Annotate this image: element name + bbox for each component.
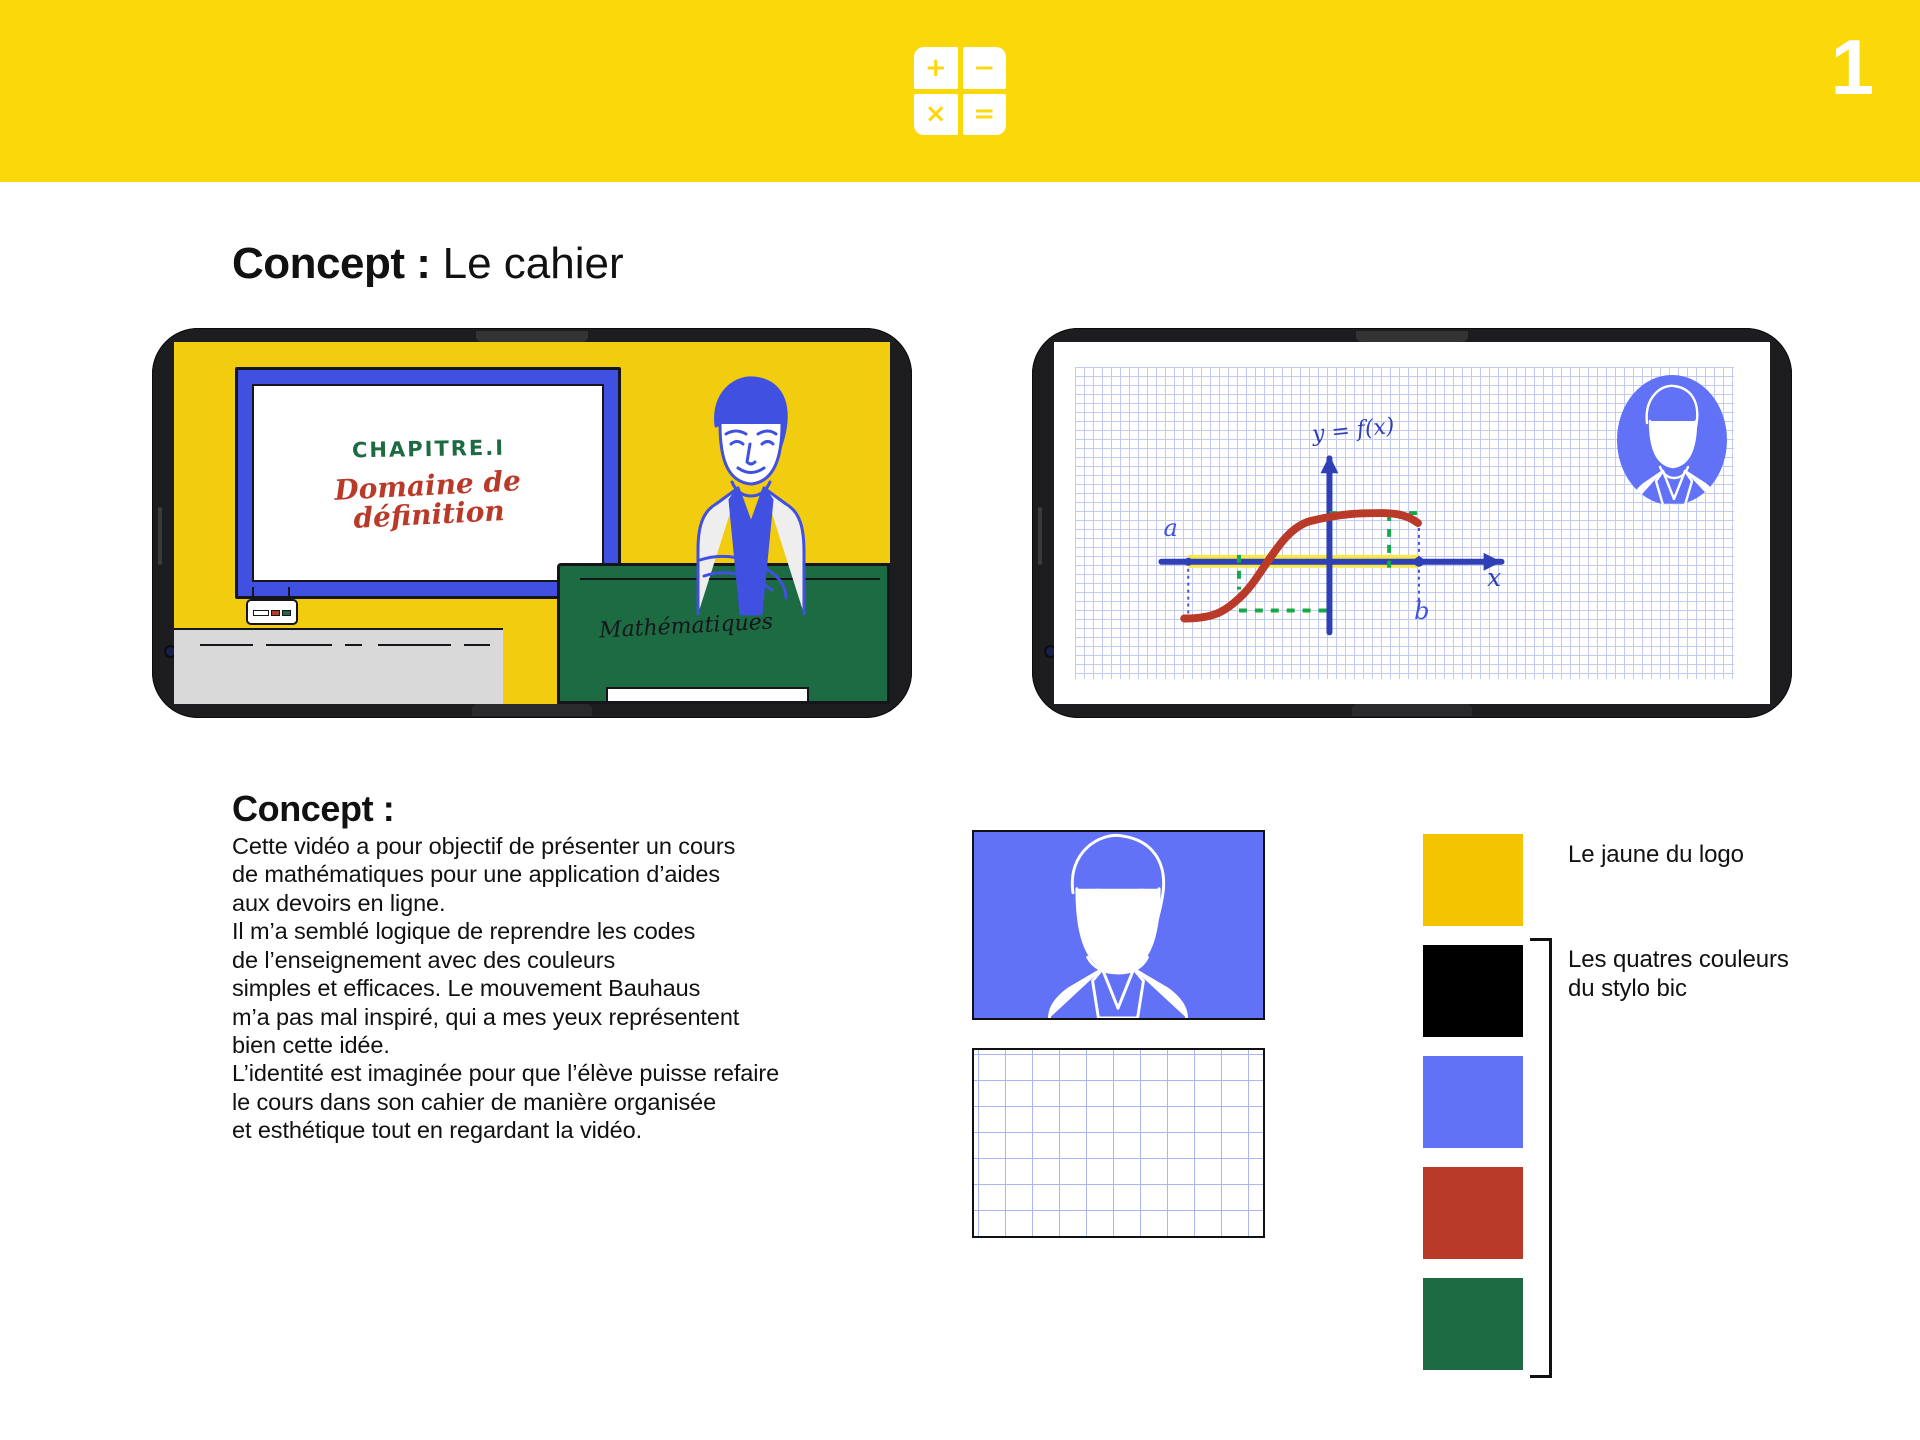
phone-volume-button[interactable] [158,507,162,565]
concept-line: aux devoirs en ligne. [232,889,852,917]
swatch-label-logo-yellow: Le jaune du logo [1568,840,1744,869]
swatch-bic-black [1423,945,1523,1037]
portrait-illustration-icon [974,832,1263,1018]
graph-paper-thumbnail [972,1048,1265,1238]
whiteboard-surface: CHAPITRE.I Domaine de définition [252,384,605,582]
bound-a-label: a [1164,514,1178,542]
graph-scene: y = f(x) x a b [1054,342,1770,704]
multiply-icon: × [925,101,947,127]
phone-mockup-graph[interactable]: y = f(x) x a b [1032,328,1792,718]
page-number: 1 [1831,28,1872,106]
avatar-portrait-icon [1617,375,1727,505]
portrait-illustration-thumbnail [972,830,1265,1020]
equals-icon: = [973,101,995,127]
concept-paragraphs: Cette vidéo a pour objectif de présenter… [232,832,852,1145]
swatch-logo-yellow [1423,834,1523,926]
calculator-logo[interactable]: + − × = [914,47,1006,135]
chapter-title-line-2: définition [335,495,523,534]
wall-line-3 [345,644,361,646]
phone-volume-button-2[interactable] [1038,507,1042,565]
wall-line-2 [266,644,332,646]
page-title: Concept : Le cahier [232,240,624,288]
plus-icon: + [925,55,947,81]
wall-line-4 [378,644,450,646]
logo-cell-plus: + [914,47,958,89]
concept-line: de mathématiques pour une application d’… [232,860,852,888]
marker-red-icon [271,610,280,616]
classroom-scene: CHAPITRE.I Domaine de définition [174,342,890,704]
concept-line: m’a pas mal inspiré, qui a mes yeux repr… [232,1003,852,1031]
marker-green-icon [282,610,291,616]
concept-line: L’identité est imaginée pour que l’élève… [232,1059,852,1087]
bound-b-label: b [1414,597,1429,625]
concept-line: de l’enseignement avec des couleurs [232,946,852,974]
classroom-wall-lower [174,628,503,704]
graph-axes [1161,458,1501,632]
concept-line: et esthétique tout en regardant la vidéo… [232,1116,852,1144]
swatch-bic-green [1423,1278,1523,1370]
minus-icon: − [973,55,995,81]
concept-line: Il m’a semblé logique de reprendre les c… [232,917,852,945]
chapter-label: CHAPITRE.I [351,435,504,462]
marker-tray [246,599,298,625]
concept-line: bien cette idée. [232,1031,852,1059]
teacher-illustration [676,364,826,624]
concept-line: le cours dans son cahier de manière orga… [232,1088,852,1116]
swatch-bic-red [1423,1167,1523,1259]
wall-line-1 [200,644,253,646]
chapter-title: Domaine de définition [333,466,523,534]
logo-cell-multiply: × [914,94,958,136]
page-header: + − × = 1 [0,0,1920,182]
concept-section: Concept : Cette vidéo a pour objectif de… [232,788,852,1145]
phone-screen-graph: y = f(x) x a b [1054,342,1770,704]
swatch-label-bic-line-2: du stylo bic [1568,974,1789,1003]
wall-line-5 [464,644,490,646]
swatch-label-bic-colors: Les quatres couleurs du stylo bic [1568,945,1789,1004]
swatch-label-bic-line-1: Les quatres couleurs [1568,945,1789,974]
page-title-bold: Concept : [232,239,430,288]
y-axis-arrow [1321,455,1339,473]
concept-line: simples et efficaces. Le mouvement Bauha… [232,974,852,1002]
point-a-dot [1184,558,1192,566]
avatar [1617,375,1727,505]
point-b-dot [1414,557,1424,567]
bic-colors-bracket [1530,938,1552,1378]
logo-cell-equals: = [963,94,1007,136]
page-title-regular: Le cahier [443,239,624,288]
phone-screen-classroom: CHAPITRE.I Domaine de définition [174,342,890,704]
concept-heading: Concept : [232,788,852,830]
phone-mockup-classroom[interactable]: CHAPITRE.I Domaine de définition [152,328,912,718]
swatch-bic-blue [1423,1056,1523,1148]
concept-line: Cette vidéo a pour objectif de présenter… [232,832,852,860]
desk-paper [606,687,809,703]
x-axis-label: x [1487,563,1501,592]
logo-cell-minus: − [963,47,1007,89]
marker-white-icon [253,610,269,616]
